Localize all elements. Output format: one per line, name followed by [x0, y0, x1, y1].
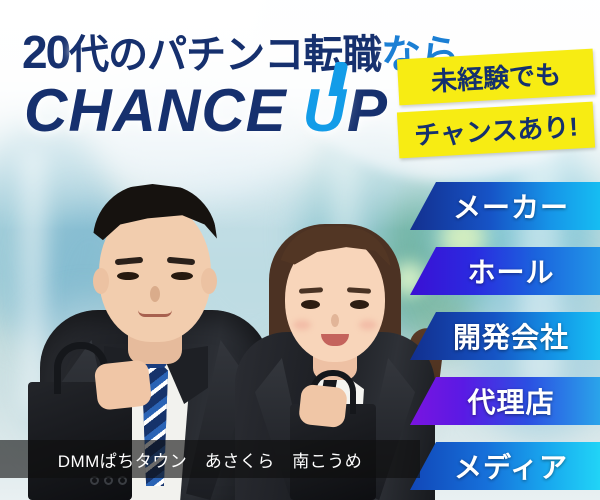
man-eye-left [117, 272, 139, 280]
category-label: 開発会社 [453, 316, 569, 356]
category-label: メディア [454, 446, 568, 486]
logo-word-chance: CHANCE [24, 77, 287, 144]
man-nose [150, 286, 160, 302]
category-button-media[interactable]: メディア [410, 442, 600, 490]
logo-letter-p: P [347, 77, 388, 144]
caption-text: DMMぱちタウン あさくら 南こうめ [58, 447, 363, 472]
category-list: メーカー ホール 開発会社 代理店 メディア [410, 182, 600, 500]
headline-number: 20 [22, 26, 69, 78]
woman-mouth [321, 334, 349, 346]
category-button-hall[interactable]: ホール [410, 247, 600, 295]
category-label: メーカー [453, 186, 569, 226]
woman-cheek-right [359, 320, 377, 330]
man-eye-right [171, 272, 193, 280]
man-mouth [138, 310, 172, 317]
woman-hand [298, 384, 348, 429]
woman-nose [331, 314, 339, 327]
category-label: 代理店 [467, 381, 554, 421]
woman-eyebrow-left [299, 287, 323, 294]
category-button-maker[interactable]: メーカー [410, 182, 600, 230]
woman-eye-left [301, 300, 320, 309]
man-ear-right [201, 268, 217, 294]
woman-eye-right [350, 300, 369, 309]
category-label: ホール [467, 251, 554, 291]
promo-badge-line1: 未経験でも [397, 49, 595, 106]
category-button-agency[interactable]: 代理店 [410, 377, 600, 425]
caption-bar: DMMぱちタウン あさくら 南こうめ [0, 440, 420, 478]
woman-cheek-left [293, 320, 311, 330]
man-hand [94, 359, 153, 410]
promo-badge-line2: チャンスあり! [397, 102, 595, 159]
woman-eyebrow-right [347, 287, 371, 294]
man-eyebrow-right [167, 257, 195, 265]
chance-up-logo: CHANCEUP [24, 76, 388, 145]
logo-letter-u: U [303, 76, 347, 145]
man-ear-left [93, 268, 109, 294]
headline: 20代のパチンコ転職なら [22, 22, 459, 80]
chance-up-banner: 20代のパチンコ転職なら CHANCEUP 未経験でも チャンスあり! メーカー… [0, 0, 600, 500]
man-eyebrow-left [115, 257, 143, 265]
category-button-development-company[interactable]: 開発会社 [410, 312, 600, 360]
promo-badge: 未経験でも チャンスあり! [398, 54, 594, 153]
